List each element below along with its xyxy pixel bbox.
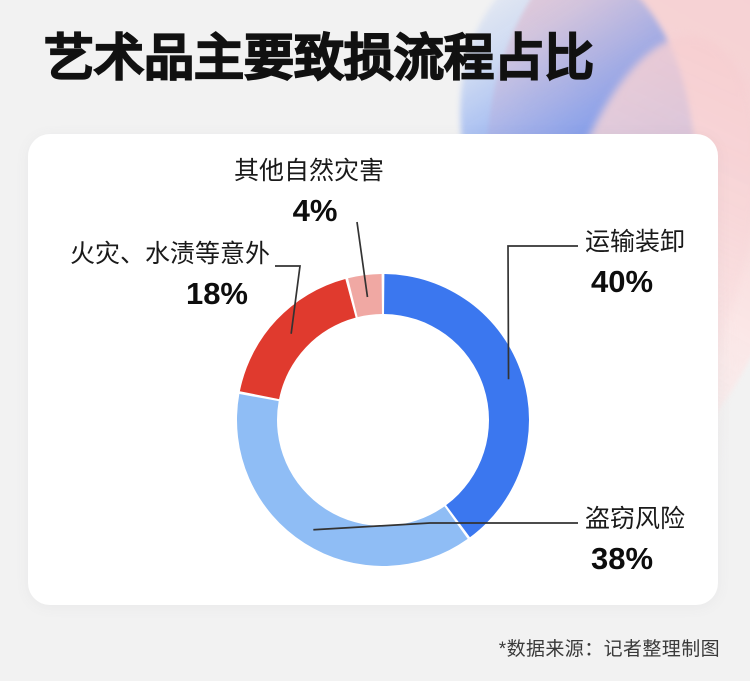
callout-fire-water-name: 火灾、水渍等意外	[70, 240, 270, 270]
data-source-note: *数据来源：记者整理制图	[499, 634, 720, 661]
callout-fire-water: 火灾、水渍等意外 18%	[70, 240, 270, 312]
donut-chart	[0, 0, 750, 681]
donut-slice-1	[384, 274, 529, 537]
callout-natural-disaster-name: 其他自然灾害	[234, 157, 384, 187]
callout-theft-value: 38%	[591, 540, 685, 577]
callout-fire-water-value: 18%	[70, 275, 270, 312]
callout-transport-value: 40%	[591, 263, 685, 300]
callout-transport-name: 运输装卸	[585, 228, 685, 258]
callout-natural-disaster-value: 4%	[234, 192, 384, 229]
callout-theft-name: 盗窃风险	[585, 505, 685, 535]
callout-transport: 运输装卸 40%	[585, 228, 685, 300]
donut-chart-svg	[0, 0, 750, 681]
infographic-root: 艺术品主要致损流程占比 运输装卸 40% 盗窃风险 38% 火灾、水渍等意外 1…	[0, 0, 750, 681]
leader-line-group	[275, 222, 578, 530]
callout-natural-disaster: 其他自然灾害 4%	[234, 157, 384, 229]
donut-slice-2	[237, 394, 468, 566]
leader-line	[508, 246, 578, 379]
callout-theft: 盗窃风险 38%	[585, 505, 685, 577]
